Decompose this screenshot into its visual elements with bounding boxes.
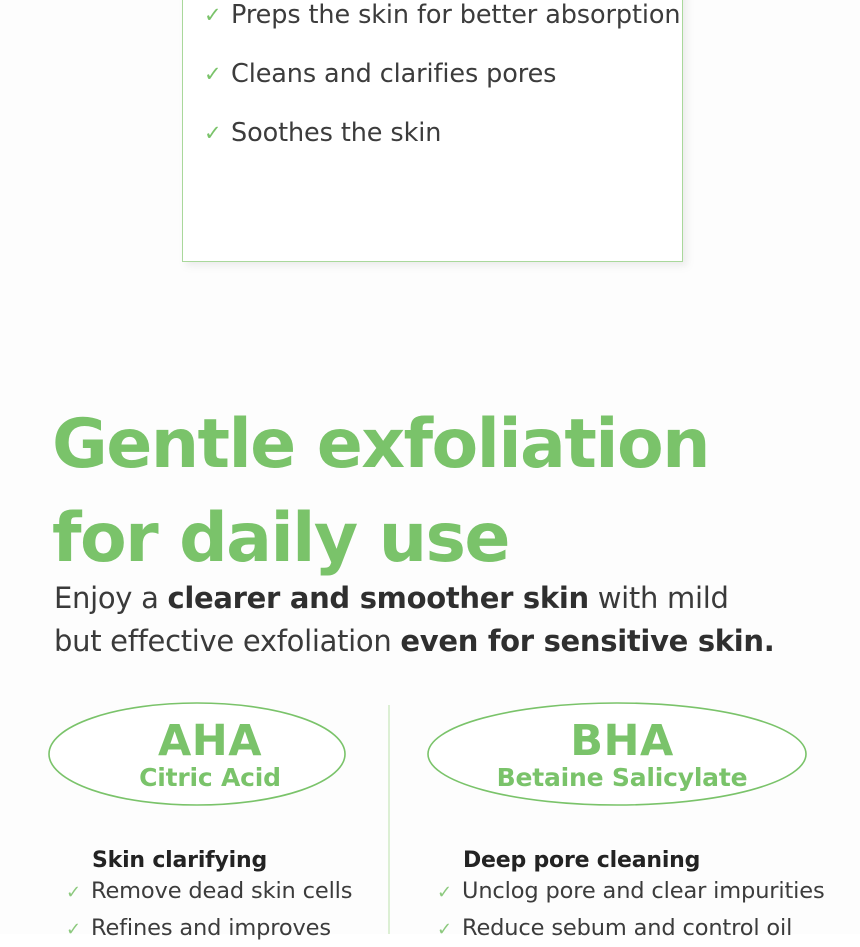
benefit-label: Refines and improves [91, 910, 331, 947]
benefit-label: Soothes the skin [231, 118, 441, 148]
intro-paragraph: Enjoy a clearer and smoother skin with m… [54, 577, 814, 663]
acid-ingredient: Citric Acid [139, 763, 281, 793]
bha-benefit-list: ✓ Unclog pore and clear impurities ✓ Red… [437, 873, 832, 947]
list-item: ✓ Preps the skin for better absorption [183, 0, 682, 59]
check-icon: ✓ [204, 5, 231, 26]
benefit-label: Unclog pore and clear impurities [462, 873, 825, 910]
list-item: ✓ Refines and improves [66, 910, 380, 947]
check-icon: ✓ [66, 884, 91, 902]
aha-benefit-list: ✓ Remove dead skin cells ✓ Refines and i… [66, 873, 380, 947]
column-divider [388, 705, 390, 934]
check-icon: ✓ [204, 123, 231, 144]
acid-column-aha: AHA Citric Acid Skin clarifying ✓ Remove… [40, 700, 380, 947]
benefits-list: ✓ Balances skin pH ✓ Preps the skin for … [183, 0, 682, 177]
intro-text-2: with mild [589, 581, 729, 615]
acid-ingredient: Betaine Salicylate [497, 763, 748, 793]
acid-abbreviation: AHA [158, 719, 262, 763]
list-item: ✓ Cleans and clarifies pores [183, 59, 682, 118]
acid-abbreviation: BHA [570, 719, 674, 763]
check-icon: ✓ [204, 64, 231, 85]
list-item: ✓ Soothes the skin [183, 118, 682, 177]
intro-text-3: but effective exfoliation [54, 624, 400, 658]
list-item: ✓ Reduce sebum and control oil [437, 910, 832, 947]
intro-emphasis-2: even for sensitive skin. [400, 624, 774, 658]
page-title: Gentle exfoliation for daily use [52, 398, 752, 586]
intro-text-1: Enjoy a [54, 581, 167, 615]
benefit-label: Reduce sebum and control oil [462, 910, 792, 947]
bha-badge-text: BHA Betaine Salicylate [412, 700, 832, 804]
check-icon: ✓ [437, 921, 462, 939]
benefit-label: Preps the skin for better absorption [231, 0, 680, 30]
bha-badge: BHA Betaine Salicylate [412, 700, 832, 810]
list-item: ✓ Remove dead skin cells [66, 873, 380, 910]
check-icon: ✓ [66, 921, 91, 939]
column-subheading: Deep pore cleaning [463, 848, 832, 873]
list-item: ✓ Unclog pore and clear impurities [437, 873, 832, 910]
benefit-label: Remove dead skin cells [91, 873, 352, 910]
aha-badge: AHA Citric Acid [40, 700, 380, 810]
intro-emphasis-1: clearer and smoother skin [167, 581, 588, 615]
check-icon: ✓ [437, 884, 462, 902]
benefits-card: ✓ Balances skin pH ✓ Preps the skin for … [182, 0, 683, 262]
column-subheading: Skin clarifying [92, 848, 380, 873]
acid-column-bha: BHA Betaine Salicylate Deep pore cleanin… [412, 700, 832, 947]
benefit-label: Cleans and clarifies pores [231, 59, 556, 89]
aha-badge-text: AHA Citric Acid [40, 700, 380, 804]
